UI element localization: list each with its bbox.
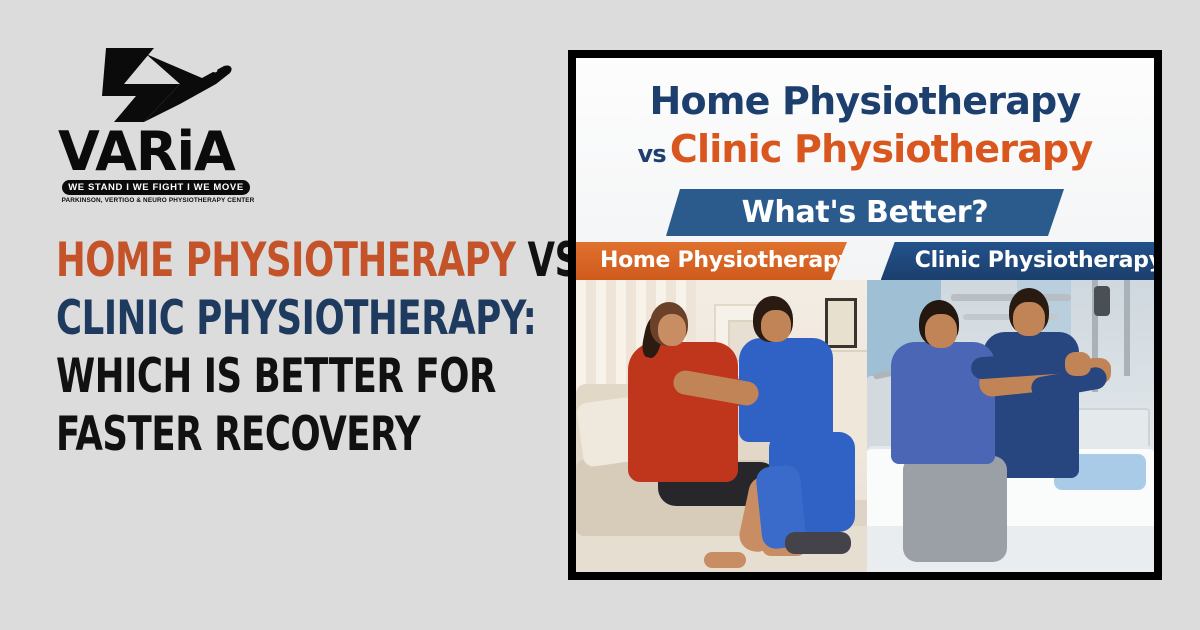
brand-logo: VARiA WE STAND I WE FIGHT I WE MOVE PARK…: [58, 44, 258, 194]
card-title-vs: vs: [638, 140, 666, 168]
comparison-panels: Home Physiotherapy: [576, 242, 1154, 572]
panel-label-clinic: Clinic Physiotherapy: [881, 242, 1154, 280]
headline-line-2: CLINIC PHYSIOTHERAPY:: [56, 290, 476, 348]
logo-wordmark: VARiA: [58, 128, 258, 176]
patient-face: [658, 314, 686, 346]
headline-line-4: FASTER RECOVERY: [56, 406, 476, 464]
logo-tagline: WE STAND I WE FIGHT I WE MOVE: [62, 180, 250, 195]
left-content-column: VARiA WE STAND I WE FIGHT I WE MOVE PARK…: [0, 0, 560, 630]
lantern-decor: [825, 298, 857, 348]
logo-subtitle: PARKINSON, VERTIGO & NEURO PHYSIOTHERAPY…: [58, 197, 258, 204]
clinic-scene: [867, 280, 1154, 572]
patient-torso-red-kurta: [628, 342, 738, 482]
panel-home: Home Physiotherapy: [576, 242, 867, 572]
iv-pole: [1124, 280, 1130, 376]
therapist-shoe: [785, 532, 851, 554]
headline-home-physio: HOME PHYSIOTHERAPY: [56, 233, 528, 288]
card-inner: Home Physiotherapy vsClinic Physiotherap…: [576, 58, 1154, 572]
therapist-hand: [1065, 352, 1091, 376]
hanging-bag: [1094, 286, 1110, 316]
card-title-home: Home Physiotherapy: [576, 78, 1154, 124]
page-title: HOME PHYSIOTHERAPY VS CLINIC PHYSIOTHERA…: [56, 232, 556, 464]
patient-face: [925, 314, 957, 348]
clinic-therapy-photo: [867, 280, 1154, 572]
card-title-clinic: Clinic Physiotherapy: [670, 127, 1093, 171]
card-title-clinic-row: vsClinic Physiotherapy: [576, 124, 1154, 179]
card-heading: Home Physiotherapy vsClinic Physiotherap…: [576, 78, 1154, 179]
panel-clinic: Clinic Physiotherapy: [867, 242, 1154, 572]
comparison-image-card: Home Physiotherapy vsClinic Physiotherap…: [568, 50, 1162, 580]
home-scene: [576, 280, 867, 572]
headline-line-1: HOME PHYSIOTHERAPY VS: [56, 232, 476, 290]
therapist-face: [1013, 302, 1045, 336]
whats-better-banner: What's Better?: [666, 189, 1064, 236]
headline-line-3: WHICH IS BETTER FOR: [56, 348, 476, 406]
home-therapy-photo: [576, 280, 867, 572]
patient-foot: [704, 552, 746, 568]
patient-legs-grey-pants: [903, 456, 1007, 562]
therapist-face: [761, 310, 791, 342]
panel-label-home: Home Physiotherapy: [576, 242, 847, 280]
